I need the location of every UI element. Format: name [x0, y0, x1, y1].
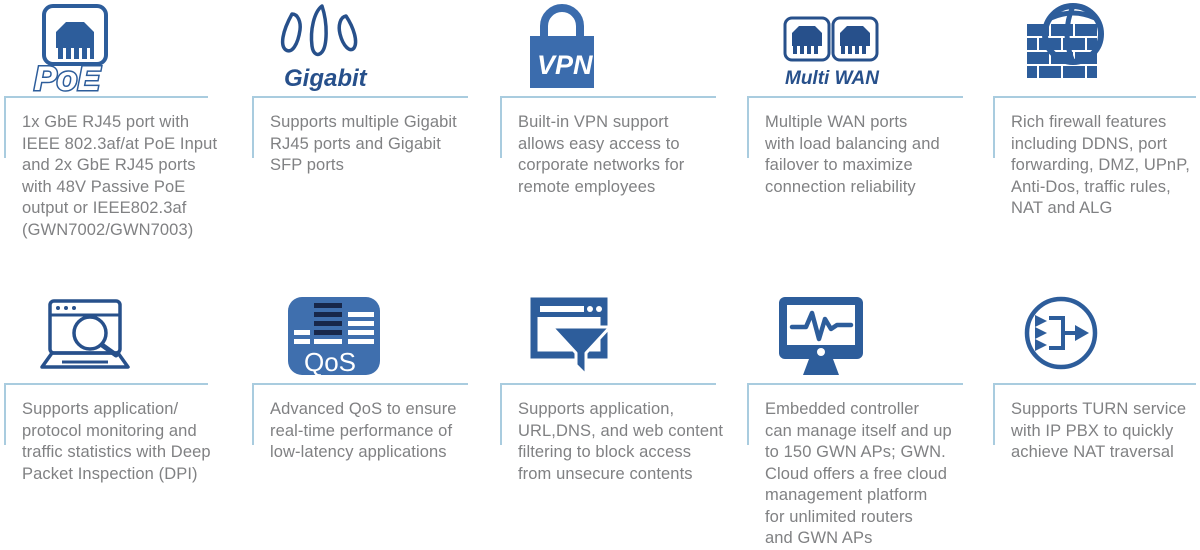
feature-grid: PoE 1x GbE RJ45 port with IEEE 802.3af/a… — [0, 0, 1200, 544]
firewall-brickwall-globe-icon — [1011, 0, 1127, 96]
divider-vertical — [993, 96, 995, 158]
divider-vertical — [500, 383, 502, 445]
feature-description: Built-in VPN support allows easy access … — [518, 112, 730, 198]
divider-vertical — [4, 383, 6, 445]
feature-description: Supports application, URL,DNS, and web c… — [518, 399, 730, 485]
svg-text:Gigabit: Gigabit — [284, 65, 368, 92]
monitor-pulse-controller-icon — [765, 287, 875, 383]
divider-horizontal — [4, 383, 208, 385]
vpn-padlock-icon: VPN — [518, 0, 628, 96]
divider-horizontal — [4, 96, 208, 98]
divider-vertical — [252, 96, 254, 158]
divider-vertical — [252, 383, 254, 445]
laptop-magnifier-dpi-icon — [22, 287, 142, 383]
feature-description: 1x GbE RJ45 port with IEEE 802.3af/at Po… — [22, 112, 234, 241]
divider-vertical — [993, 383, 995, 445]
feature-description: Supports TURN service with IP PBX to qui… — [1011, 399, 1200, 464]
feature-description: Rich firewall features including DDNS, p… — [1011, 112, 1200, 220]
divider-horizontal — [500, 383, 716, 385]
divider-vertical — [500, 96, 502, 158]
divider-vertical — [4, 96, 6, 158]
feature-description: Supports multiple Gigabit RJ45 ports and… — [270, 112, 482, 177]
divider-horizontal — [252, 96, 468, 98]
feature-description: Advanced QoS to ensure real-time perform… — [270, 399, 482, 464]
divider-vertical — [747, 96, 749, 158]
gigabit-icon: Gigabit — [270, 0, 400, 96]
turn-nat-traversal-icon — [1011, 287, 1121, 383]
divider-horizontal — [252, 383, 468, 385]
svg-text:VPN: VPN — [537, 50, 593, 80]
svg-text:Multi WAN: Multi WAN — [785, 68, 880, 89]
poe-rj45-icon: PoE — [22, 0, 142, 96]
browser-funnel-filter-icon — [518, 287, 628, 383]
feature-description: Supports application/ protocol monitorin… — [22, 399, 234, 485]
divider-horizontal — [747, 383, 963, 385]
divider-horizontal — [993, 96, 1196, 98]
feature-description: Multiple WAN ports with load balancing a… — [765, 112, 977, 198]
svg-text:PoE: PoE — [34, 60, 101, 94]
feature-description: Embedded controller can manage itself an… — [765, 399, 977, 550]
svg-text:QoS: QoS — [304, 347, 356, 377]
divider-vertical — [747, 383, 749, 445]
divider-horizontal — [500, 96, 716, 98]
divider-horizontal — [993, 383, 1196, 385]
divider-horizontal — [747, 96, 963, 98]
qos-equalizer-icon: QoS — [270, 287, 380, 383]
multi-wan-icon: Multi WAN — [765, 0, 895, 96]
